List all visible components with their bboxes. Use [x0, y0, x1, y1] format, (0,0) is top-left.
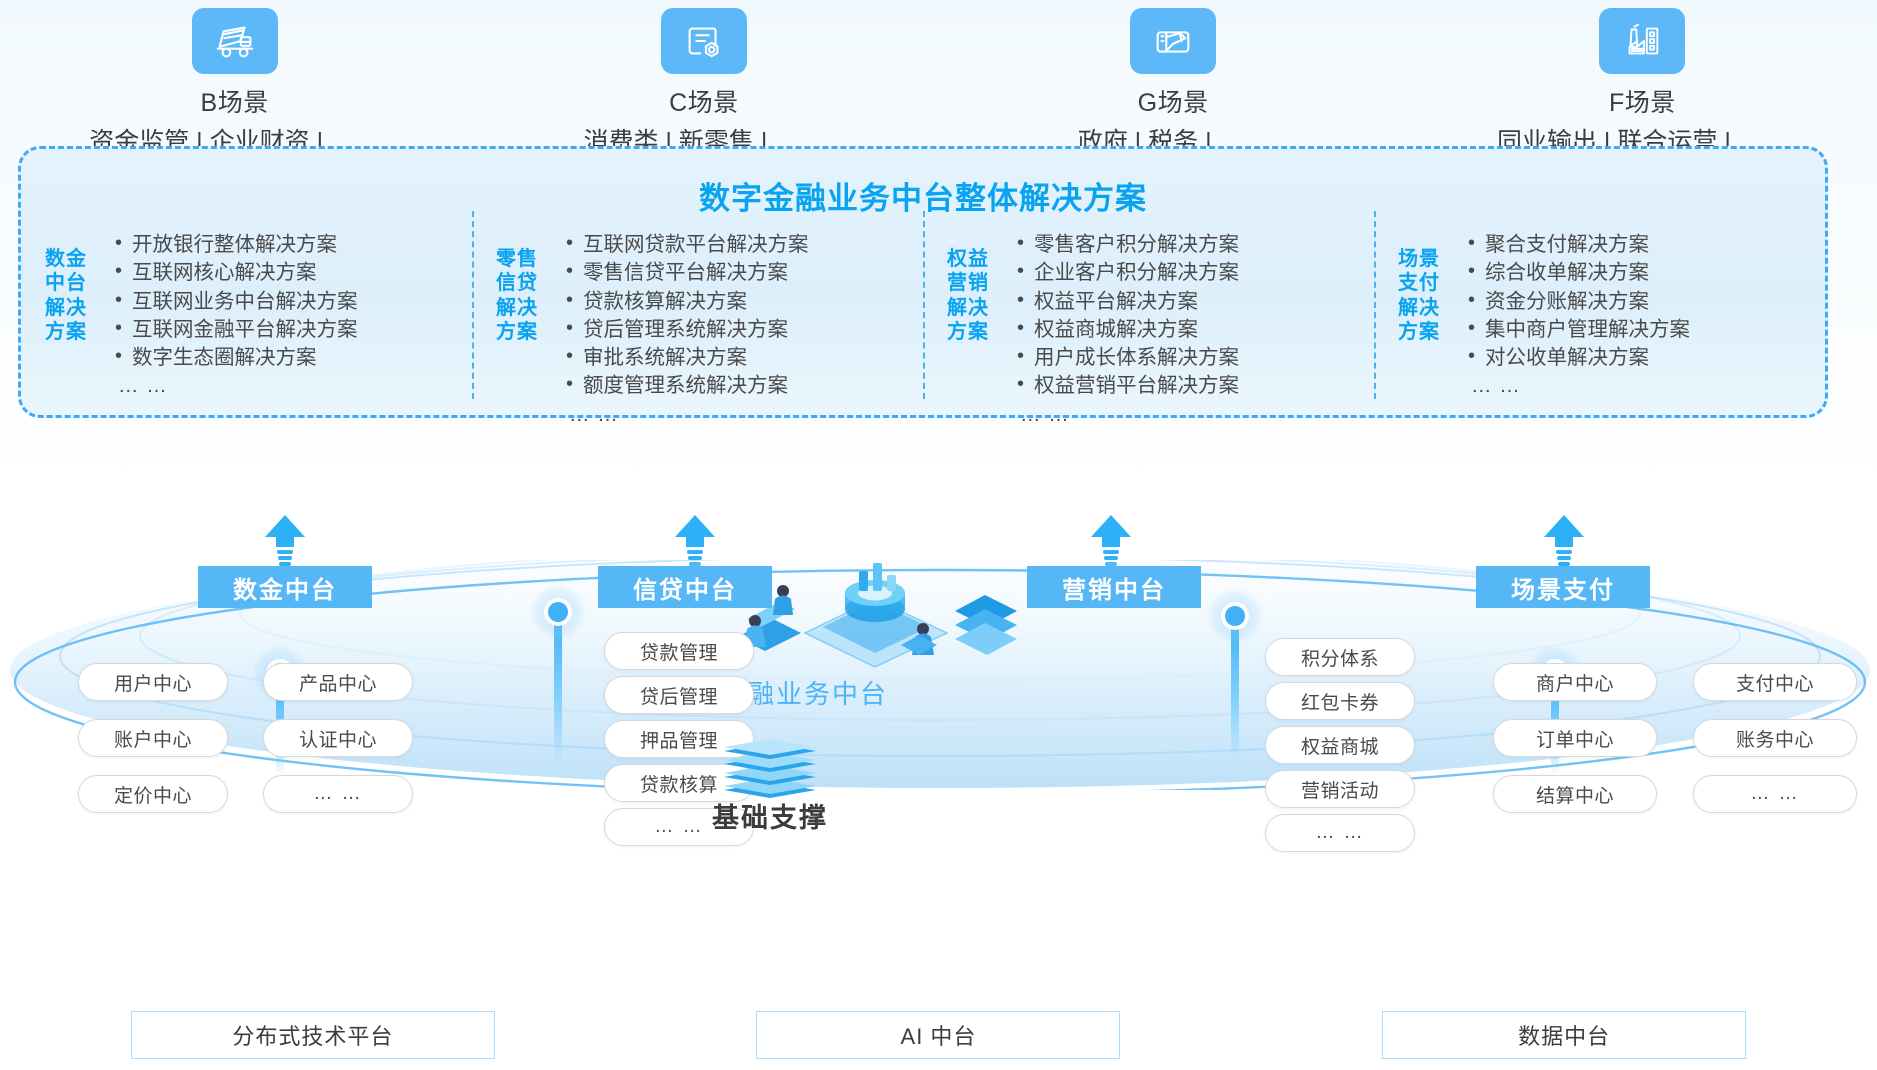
panel-column-payment: 场景支付解决方案 聚合支付解决方案 综合收单解决方案 资金分账解决方案 集中商户…	[1374, 225, 1825, 415]
pill-auth-center[interactable]: 认证中心	[263, 719, 413, 757]
scenario-row: B场景 资金监管 | 企业财资 | …… C场景 消费类 | 新零售 | ……	[0, 8, 1877, 158]
pill-points-system[interactable]: 积分体系	[1265, 638, 1415, 676]
scenario-item-g[interactable]: G场景 政府 | 税务 | ……	[939, 8, 1408, 158]
pill-accounting-center[interactable]: 账务中心	[1693, 719, 1857, 757]
scenario-title: B场景	[201, 83, 269, 119]
list-item: 审批系统解决方案	[566, 344, 809, 372]
list-item: 贷款核算解决方案	[566, 288, 809, 316]
panel-column-list: 聚合支付解决方案 综合收单解决方案 资金分账解决方案 集中商户管理解决方案 对公…	[1468, 225, 1690, 401]
scenario-title: F场景	[1609, 83, 1676, 119]
map-icon	[1130, 8, 1216, 74]
list-item: 企业客户积分解决方案	[1017, 259, 1239, 287]
list-item: 零售信贷平台解决方案	[566, 259, 809, 287]
foundation-box-ai[interactable]: AI 中台	[756, 1011, 1120, 1059]
list-item: 零售客户积分解决方案	[1017, 231, 1239, 259]
scenario-item-b[interactable]: B场景 资金监管 | 企业财资 | ……	[0, 8, 469, 158]
panel-column-label: 数金中台解决方案	[45, 247, 107, 345]
scenario-item-c[interactable]: C场景 消费类 | 新零售 | ……	[469, 8, 938, 158]
foundation-box-distributed[interactable]: 分布式技术平台	[131, 1011, 495, 1059]
list-item: 权益商城解决方案	[1017, 316, 1239, 344]
panel-column-marketing: 权益营销解决方案 零售客户积分解决方案 企业客户积分解决方案 权益平台解决方案 …	[923, 225, 1374, 415]
list-item: 对公收单解决方案	[1468, 344, 1690, 372]
panel-column-shujin: 数金中台解决方案 开放银行整体解决方案 互联网核心解决方案 互联网业务中台解决方…	[21, 225, 472, 415]
panel-column-credit: 零售信贷解决方案 互联网贷款平台解决方案 零售信贷平台解决方案 贷款核算解决方案…	[472, 225, 923, 415]
pill-settlement-center[interactable]: 结算中心	[1493, 775, 1657, 813]
solution-panel: 数字金融业务中台整体解决方案 数金中台解决方案 开放银行整体解决方案 互联网核心…	[18, 146, 1828, 418]
list-item: 互联网贷款平台解决方案	[566, 231, 809, 259]
pill-payment-more[interactable]: … …	[1693, 775, 1857, 813]
list-ellipsis: … …	[1017, 401, 1239, 429]
pin-dot	[548, 602, 568, 622]
foundation-box-data[interactable]: 数据中台	[1382, 1011, 1746, 1059]
list-ellipsis: … …	[566, 401, 809, 429]
pill-loan-management[interactable]: 贷款管理	[604, 632, 754, 670]
panel-column-list: 互联网贷款平台解决方案 零售信贷平台解决方案 贷款核算解决方案 贷后管理系统解决…	[566, 225, 809, 429]
list-item: 开放银行整体解决方案	[115, 231, 358, 259]
pill-merchant-center[interactable]: 商户中心	[1493, 663, 1657, 701]
platform-badge-credit[interactable]: 信贷中台	[598, 566, 772, 608]
list-item: 用户成长体系解决方案	[1017, 344, 1239, 372]
list-item: 互联网核心解决方案	[115, 259, 358, 287]
pin-marker-credit	[530, 584, 586, 764]
platform-badge-shujin[interactable]: 数金中台	[198, 566, 372, 608]
pill-marketing-more[interactable]: … …	[1265, 814, 1415, 852]
list-item: 集中商户管理解决方案	[1468, 316, 1690, 344]
layers-stack-icon	[712, 738, 828, 800]
list-item: 聚合支付解决方案	[1468, 231, 1690, 259]
list-ellipsis: … …	[115, 372, 358, 400]
pin-marker-marketing	[1207, 588, 1263, 764]
pill-user-center[interactable]: 用户中心	[78, 663, 228, 701]
panel-column-label: 零售信贷解决方案	[496, 247, 558, 345]
panel-column-list: 零售客户积分解决方案 企业客户积分解决方案 权益平台解决方案 权益商城解决方案 …	[1017, 225, 1239, 429]
pill-pricing-center[interactable]: 定价中心	[78, 775, 228, 813]
pill-account-center[interactable]: 账户中心	[78, 719, 228, 757]
pill-shujin-more[interactable]: … …	[263, 775, 413, 813]
list-ellipsis: … …	[1468, 372, 1690, 400]
list-item: 权益平台解决方案	[1017, 288, 1239, 316]
up-arrow-icon-3	[1089, 515, 1133, 573]
truck-icon	[192, 8, 278, 74]
pin-dot	[1225, 606, 1245, 626]
platform-badge-payment[interactable]: 场景支付	[1476, 566, 1650, 608]
list-item: 数字生态圈解决方案	[115, 344, 358, 372]
panel-columns: 数金中台解决方案 开放银行整体解决方案 互联网核心解决方案 互联网业务中台解决方…	[21, 225, 1825, 415]
pill-payment-center[interactable]: 支付中心	[1693, 663, 1857, 701]
document-search-icon	[661, 8, 747, 74]
up-arrow-icon-4	[1542, 515, 1586, 573]
panel-column-label: 场景支付解决方案	[1398, 247, 1460, 345]
foundation-title: 基础支撑	[650, 796, 890, 835]
scenario-item-f[interactable]: F场景 同业输出 | 联合运营 | ……	[1408, 8, 1877, 158]
panel-column-label: 权益营销解决方案	[947, 247, 1009, 345]
pill-marketing-campaign[interactable]: 营销活动	[1265, 770, 1415, 808]
scenario-title: C场景	[669, 83, 739, 119]
list-item: 互联网金融平台解决方案	[115, 316, 358, 344]
list-item: 额度管理系统解决方案	[566, 372, 809, 400]
panel-column-list: 开放银行整体解决方案 互联网核心解决方案 互联网业务中台解决方案 互联网金融平台…	[115, 225, 358, 401]
up-arrow-icon-1	[263, 515, 307, 573]
list-item: 权益营销平台解决方案	[1017, 372, 1239, 400]
list-item: 资金分账解决方案	[1468, 288, 1690, 316]
pill-product-center[interactable]: 产品中心	[263, 663, 413, 701]
factory-icon	[1599, 8, 1685, 74]
foundation-row: 分布式技术平台 AI 中台 数据中台	[0, 1011, 1877, 1059]
pill-rights-mall[interactable]: 权益商城	[1265, 726, 1415, 764]
pill-coupons[interactable]: 红包卡券	[1265, 682, 1415, 720]
pill-post-loan-management[interactable]: 贷后管理	[604, 676, 754, 714]
list-item: 互联网业务中台解决方案	[115, 288, 358, 316]
platform-badge-marketing[interactable]: 营销中台	[1027, 566, 1201, 608]
list-item: 综合收单解决方案	[1468, 259, 1690, 287]
scenario-title: G场景	[1138, 83, 1209, 119]
list-item: 贷后管理系统解决方案	[566, 316, 809, 344]
pill-order-center[interactable]: 订单中心	[1493, 719, 1657, 757]
